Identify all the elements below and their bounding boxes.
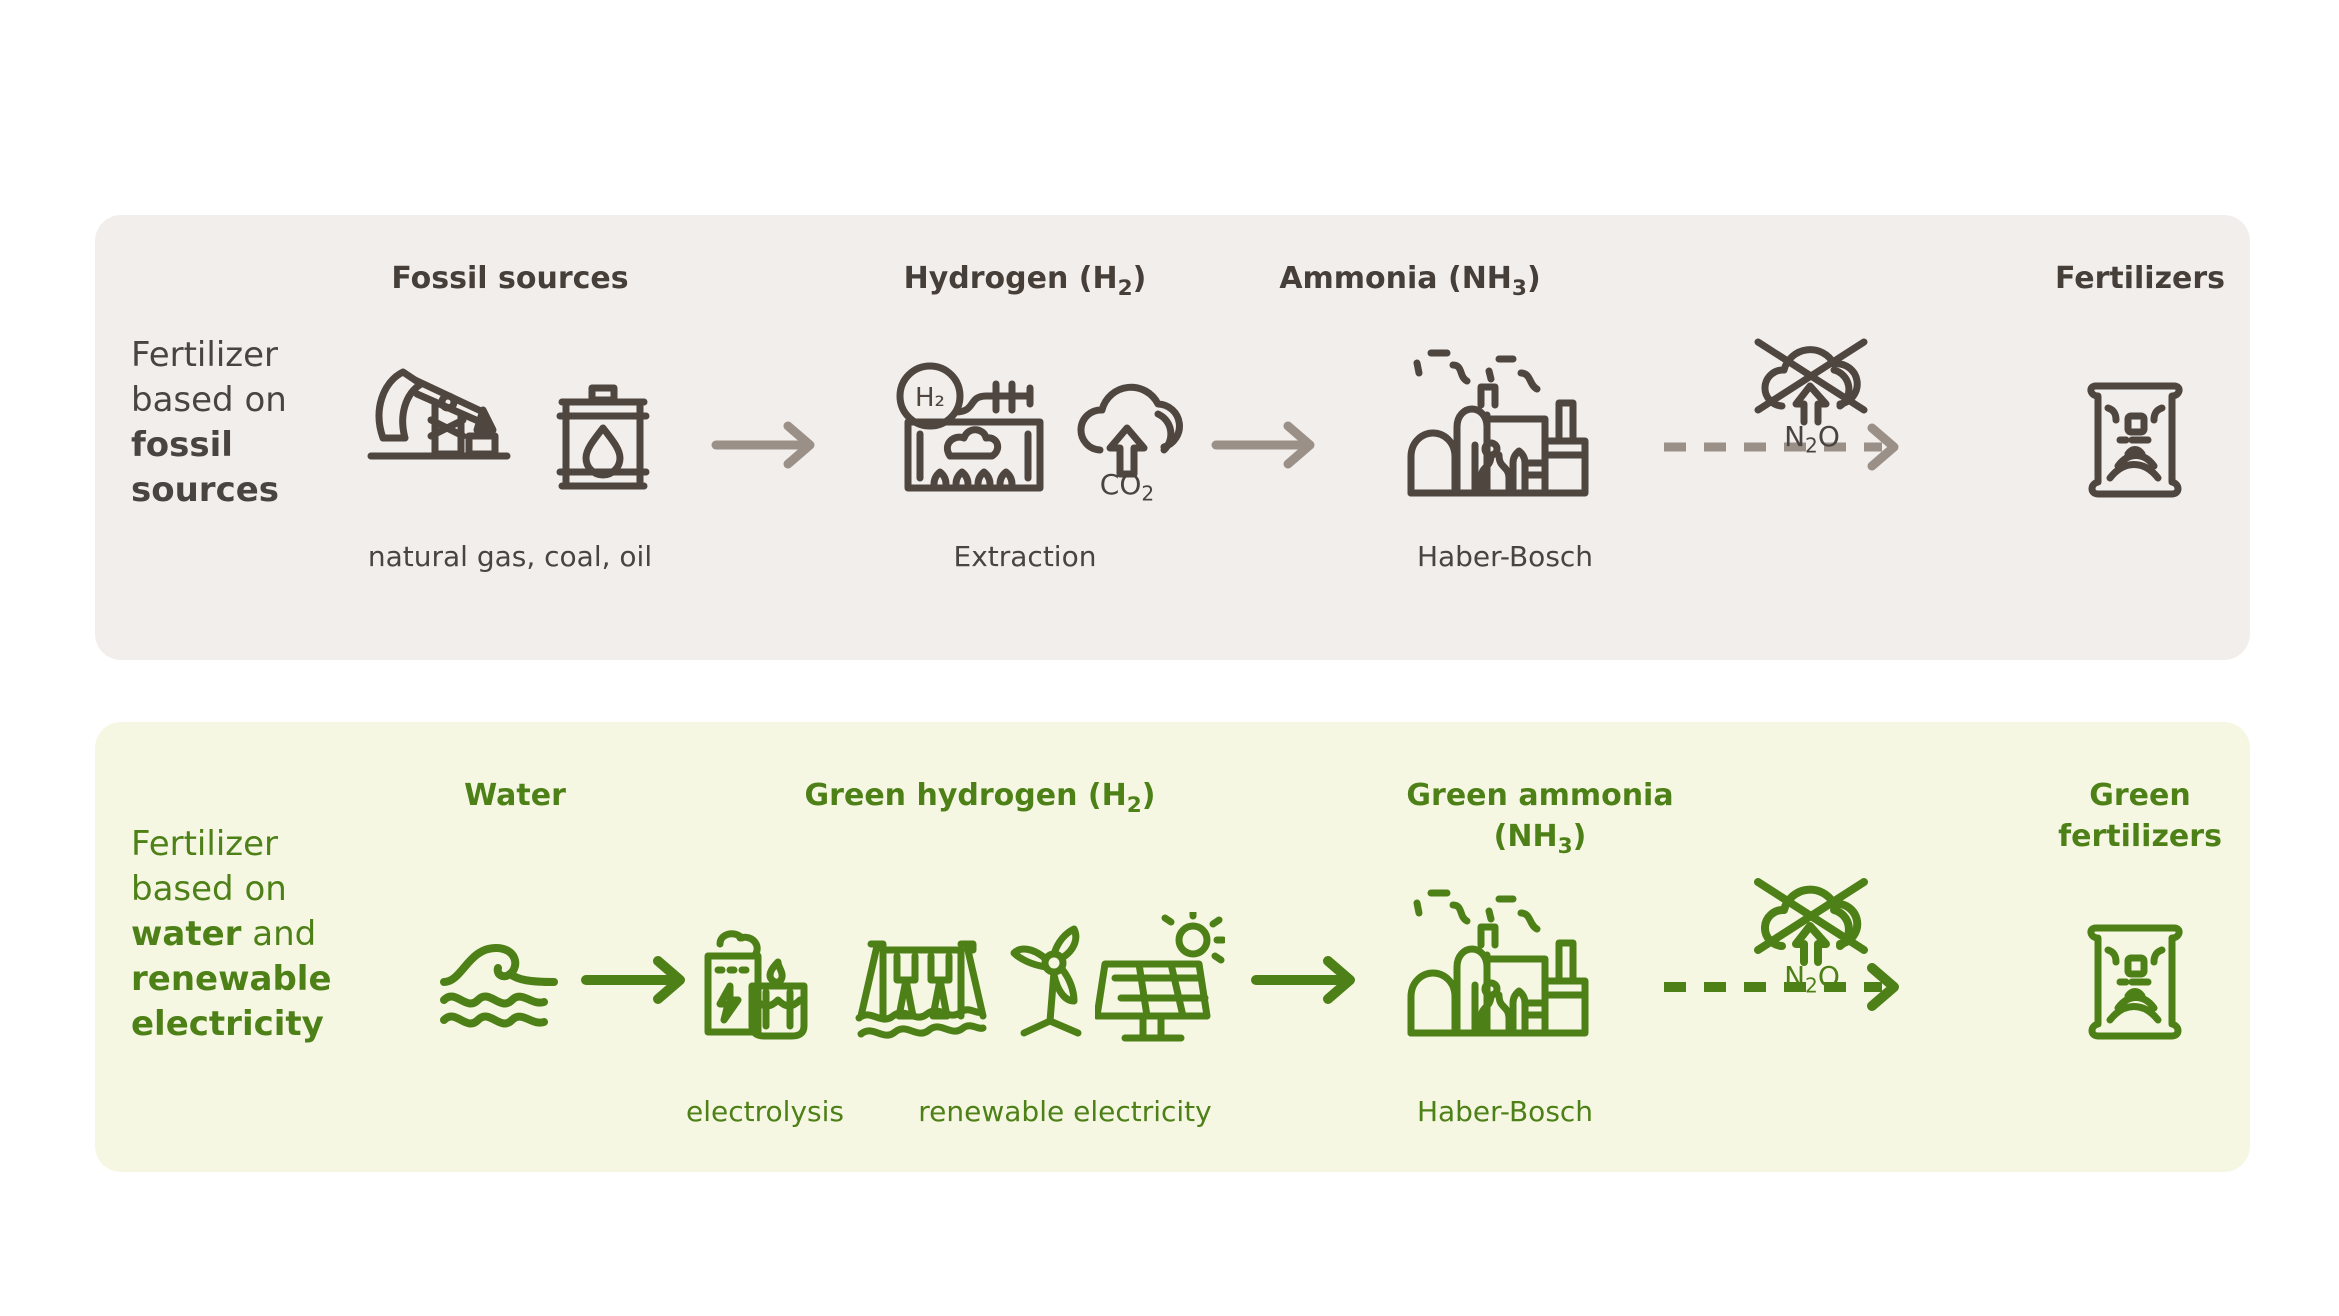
n2o-label: N2O [1722,420,1902,458]
flow-arrow-fossil-1 [710,420,830,470]
water-wave-icon [438,940,563,1030]
wind-turbine-icon [1000,925,1105,1045]
column-heading-hydrogen: Hydrogen (H2) [845,258,1205,309]
green-fert-line2: fertilizers [2058,819,2222,854]
ammonia-factory-icon [1395,345,1595,500]
column-heading-water: Water [370,775,660,816]
green-side-line2: based on [131,869,287,909]
column-heading-fertilizers: Fertilizers [1990,258,2290,299]
side-label-line3: fossil [131,425,233,465]
oil-barrel-icon [548,380,658,500]
side-label-line4: sources [131,470,279,510]
flow-arrow-fossil-2 [1210,420,1330,470]
svg-text:H₂: H₂ [915,383,945,413]
flow-arrow-green-1 [580,955,700,1005]
caption-renewable-electricity: renewable electricity [830,1095,1300,1128]
green-side-line3-rest: and [241,914,316,954]
side-label-line1: Fertilizer [131,335,278,375]
green-fertilizer-bag-icon [2080,920,2190,1045]
green-side-line1: Fertilizer [131,824,278,864]
oil-pumpjack-icon [365,350,515,490]
side-label-line2: based on [131,380,287,420]
diagram-canvas: Fertilizer based on fossil sources Fossi… [0,0,2339,1316]
column-heading-fossil-sources: Fossil sources [330,258,690,299]
green-side-line5: electricity [131,1004,324,1044]
column-heading-green-ammonia: Green ammonia(NH3) [1300,775,1780,867]
column-heading-green-hydrogen: Green hydrogen (H2) [680,775,1280,826]
column-heading-green-fertilizers: Green fertilizers [1990,775,2290,857]
flow-arrow-green-2 [1250,955,1370,1005]
hydrogen-plant-icon: H₂ [890,360,1050,500]
green-route-side-label: Fertilizer based on water and renewable … [131,822,366,1047]
hydro-dam-icon [855,930,990,1045]
green-side-line3-bold: water [131,914,241,954]
fossil-route-side-label: Fertilizer based on fossil sources [131,333,346,513]
green-n2o-label: N2O [1722,960,1902,998]
caption-hydrogen: Extraction [845,540,1205,573]
caption-green-haber-bosch: Haber-Bosch [1295,1095,1715,1128]
column-heading-ammonia: Ammonia (NH3) [1180,258,1640,309]
co2-label: CO2 [1042,468,1212,506]
electrolyser-icon [700,930,815,1045]
caption-ammonia: Haber-Bosch [1295,540,1715,573]
green-fert-line1: Green [2089,778,2190,813]
green-ammonia-factory-icon [1395,885,1595,1040]
fertilizer-bag-icon [2080,378,2190,503]
caption-fossil-sources: natural gas, coal, oil [330,540,690,573]
green-side-line4: renewable [131,959,332,999]
solar-panel-icon [1095,912,1225,1047]
